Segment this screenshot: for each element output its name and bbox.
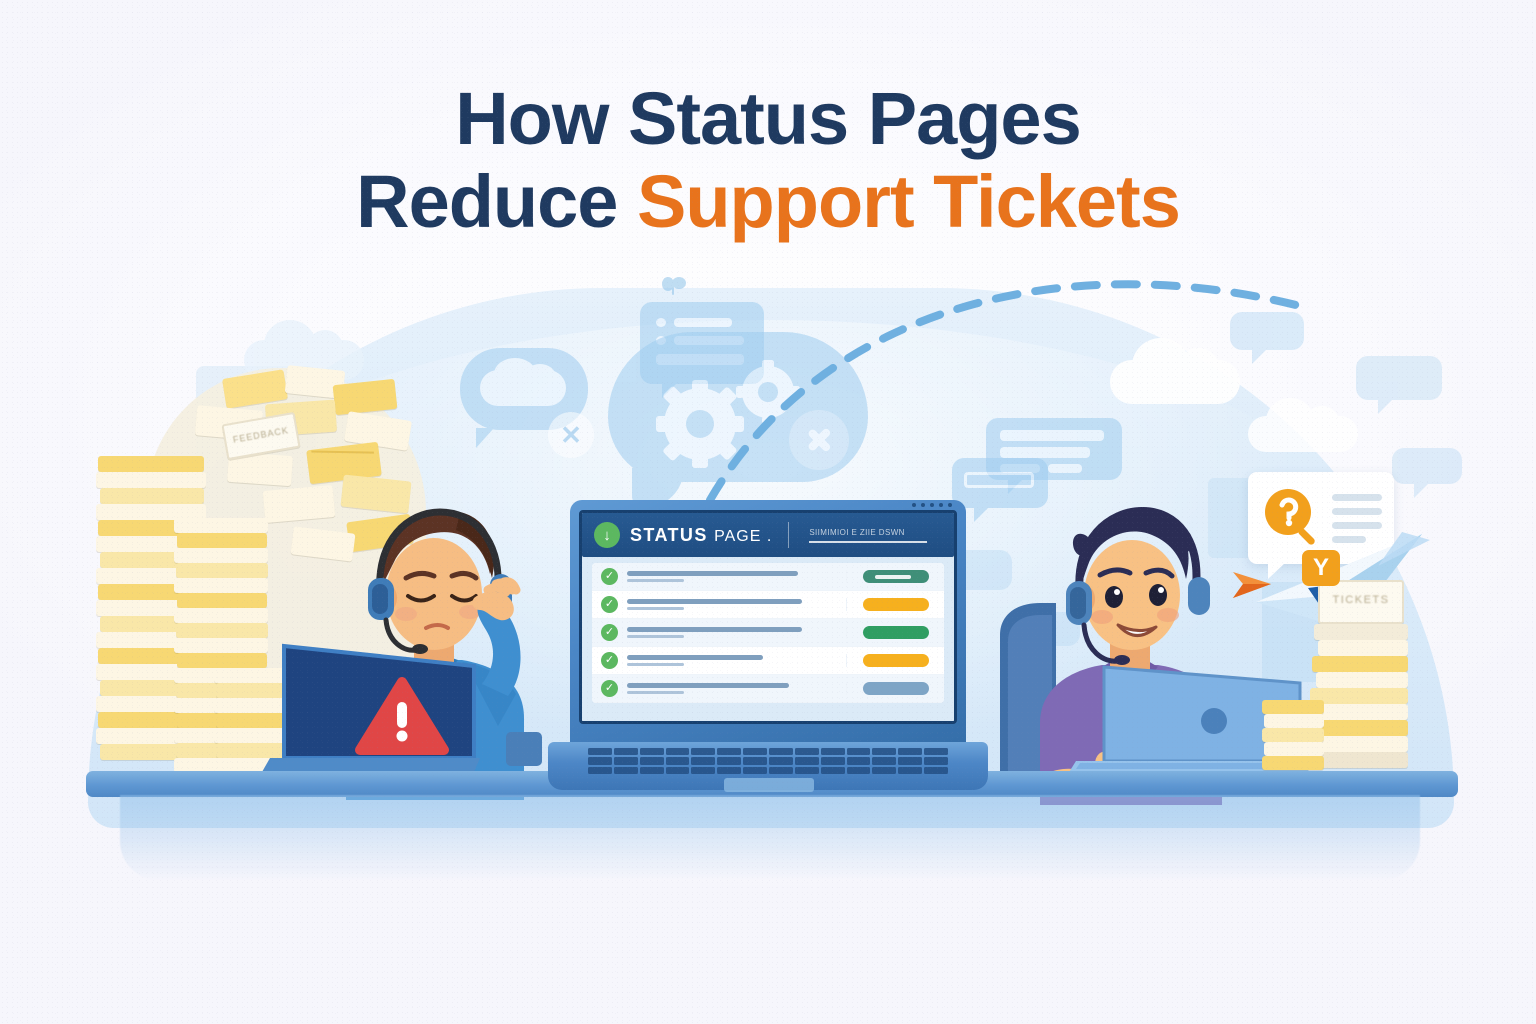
keyboard-key[interactable] bbox=[666, 757, 690, 764]
keyboard-key[interactable] bbox=[821, 748, 845, 755]
status-page-header: ↓ STATUS PAGE . SIIMIMIOI E ZIIE DSWN bbox=[582, 513, 954, 557]
status-row[interactable]: ✓ bbox=[592, 563, 944, 591]
status-page-title-thin: PAGE . bbox=[714, 528, 772, 545]
keyboard-key[interactable] bbox=[743, 757, 767, 764]
cloud-icon bbox=[1248, 416, 1358, 452]
cloud-icon bbox=[1110, 360, 1240, 404]
keyboard-key[interactable] bbox=[614, 748, 638, 755]
keyboard-key[interactable] bbox=[588, 748, 612, 755]
keyboard-key[interactable] bbox=[666, 767, 690, 774]
desk-reflection bbox=[120, 795, 1420, 881]
title-line-2: Reduce Support Tickets bbox=[0, 161, 1536, 244]
pill-inner-bar bbox=[875, 575, 911, 579]
status-page-body: ✓✓✓✓✓ bbox=[582, 557, 954, 724]
chat-bubble-icon bbox=[1356, 356, 1442, 400]
check-circle-icon: ✓ bbox=[601, 568, 618, 585]
check-circle-icon: ✓ bbox=[601, 624, 618, 641]
status-row[interactable]: ✓ bbox=[592, 591, 944, 619]
scene: ✕ bbox=[0, 250, 1536, 890]
keyboard-key[interactable] bbox=[821, 767, 845, 774]
keyboard-key[interactable] bbox=[898, 767, 922, 774]
status-row-label-placeholder bbox=[627, 627, 846, 638]
keyboard-key[interactable] bbox=[614, 767, 638, 774]
keyboard-key[interactable] bbox=[666, 748, 690, 755]
keyboard-key[interactable] bbox=[924, 757, 948, 764]
header-divider bbox=[788, 522, 789, 548]
status-page-meta-rule bbox=[809, 541, 927, 543]
status-row-state-cell bbox=[846, 682, 944, 695]
plane-badge-icon: Y bbox=[1302, 550, 1340, 586]
keyboard-key[interactable] bbox=[898, 757, 922, 764]
status-page-laptop: ↓ STATUS PAGE . SIIMIMIOI E ZIIE DSWN ✓✓… bbox=[548, 500, 988, 800]
status-row-state-cell bbox=[846, 598, 944, 611]
status-table: ✓✓✓✓✓ bbox=[592, 563, 944, 703]
keyboard-key[interactable] bbox=[717, 767, 741, 774]
left-agent-laptop bbox=[260, 640, 480, 780]
operational-pill[interactable] bbox=[863, 570, 929, 583]
x-mark-icon: ✕ bbox=[548, 412, 594, 458]
keyboard-key[interactable] bbox=[769, 757, 793, 764]
keyboard-key[interactable] bbox=[588, 757, 612, 764]
laptop-lid: ↓ STATUS PAGE . SIIMIMIOI E ZIIE DSWN ✓✓… bbox=[570, 500, 966, 748]
operational-pill[interactable] bbox=[863, 626, 929, 639]
status-row-label-placeholder bbox=[627, 655, 846, 666]
keyboard-key[interactable] bbox=[924, 748, 948, 755]
check-circle-icon: ✓ bbox=[601, 680, 618, 697]
keyboard-key[interactable] bbox=[872, 757, 896, 764]
degraded-pill[interactable] bbox=[863, 598, 929, 611]
keyboard-key[interactable] bbox=[691, 767, 715, 774]
ticket-envelope-pile-right: TICKETS bbox=[1262, 580, 1422, 780]
keyboard-key[interactable] bbox=[847, 767, 871, 774]
keyboard-key[interactable] bbox=[614, 757, 638, 764]
maintenance-pill[interactable] bbox=[863, 682, 929, 695]
keyboard-key[interactable] bbox=[640, 748, 664, 755]
laptop-screen: ↓ STATUS PAGE . SIIMIMIOI E ZIIE DSWN ✓✓… bbox=[579, 510, 957, 724]
laptop-bezel-dots bbox=[912, 503, 952, 507]
keyboard-key[interactable] bbox=[691, 748, 715, 755]
status-row-state-cell bbox=[846, 626, 944, 639]
status-row-state-cell bbox=[846, 654, 944, 667]
status-row[interactable]: ✓ bbox=[592, 675, 944, 703]
status-page-title-bold: STATUS bbox=[630, 525, 708, 545]
keyboard-key[interactable] bbox=[717, 748, 741, 755]
keyboard-key[interactable] bbox=[847, 748, 871, 755]
check-circle-icon: ✓ bbox=[601, 652, 618, 669]
keyboard-key[interactable] bbox=[743, 748, 767, 755]
keyboard-key[interactable] bbox=[588, 767, 612, 774]
desk-accessory bbox=[506, 732, 542, 766]
status-row[interactable]: ✓ bbox=[592, 647, 944, 675]
chat-bubble-icon bbox=[1230, 312, 1304, 350]
chat-bubble-icon bbox=[1392, 448, 1462, 484]
keyboard-key[interactable] bbox=[769, 767, 793, 774]
keyboard-key[interactable] bbox=[872, 748, 896, 755]
ticket-box-label: TICKETS bbox=[1320, 594, 1402, 606]
keyboard-key[interactable] bbox=[795, 767, 819, 774]
download-arrow-icon: ↓ bbox=[594, 522, 620, 548]
title-line-2-plain: Reduce bbox=[356, 160, 637, 243]
keyboard-key[interactable] bbox=[898, 748, 922, 755]
keyboard-key[interactable] bbox=[795, 757, 819, 764]
check-circle-icon: ✓ bbox=[601, 596, 618, 613]
status-row-label-placeholder bbox=[627, 683, 846, 694]
keyboard-key[interactable] bbox=[769, 748, 793, 755]
keyboard-key[interactable] bbox=[795, 748, 819, 755]
page-title: How Status Pages Reduce Support Tickets bbox=[0, 78, 1536, 244]
keyboard-key[interactable] bbox=[924, 767, 948, 774]
keyboard-key[interactable] bbox=[743, 767, 767, 774]
keyboard-key[interactable] bbox=[691, 757, 715, 764]
keyboard-key[interactable] bbox=[821, 757, 845, 764]
keyboard-key[interactable] bbox=[640, 767, 664, 774]
title-line-1: How Status Pages bbox=[0, 78, 1536, 161]
status-page-meta: SIIMIMIOI E ZIIE DSWN bbox=[809, 528, 927, 543]
sparkle-icon bbox=[660, 276, 686, 298]
degraded-pill[interactable] bbox=[863, 654, 929, 667]
status-page-title: STATUS PAGE . bbox=[630, 525, 772, 546]
keyboard-key[interactable] bbox=[872, 767, 896, 774]
status-page-meta-text: SIIMIMIOI E ZIIE DSWN bbox=[809, 528, 927, 537]
keyboard-key[interactable] bbox=[847, 757, 871, 764]
keyboard-key[interactable] bbox=[640, 757, 664, 764]
laptop-trackpad[interactable] bbox=[724, 778, 814, 792]
keyboard-key[interactable] bbox=[717, 757, 741, 764]
envelope-label-text: FEEDBACK bbox=[225, 424, 296, 446]
laptop-keyboard[interactable] bbox=[588, 748, 948, 774]
illustration-canvas: How Status Pages Reduce Support Tickets … bbox=[0, 0, 1536, 1024]
status-row-label-placeholder bbox=[627, 571, 846, 582]
status-row-state-cell bbox=[846, 570, 944, 583]
status-row[interactable]: ✓ bbox=[592, 619, 944, 647]
status-row-label-placeholder bbox=[627, 599, 846, 610]
title-line-2-accent: Support Tickets bbox=[637, 160, 1180, 243]
